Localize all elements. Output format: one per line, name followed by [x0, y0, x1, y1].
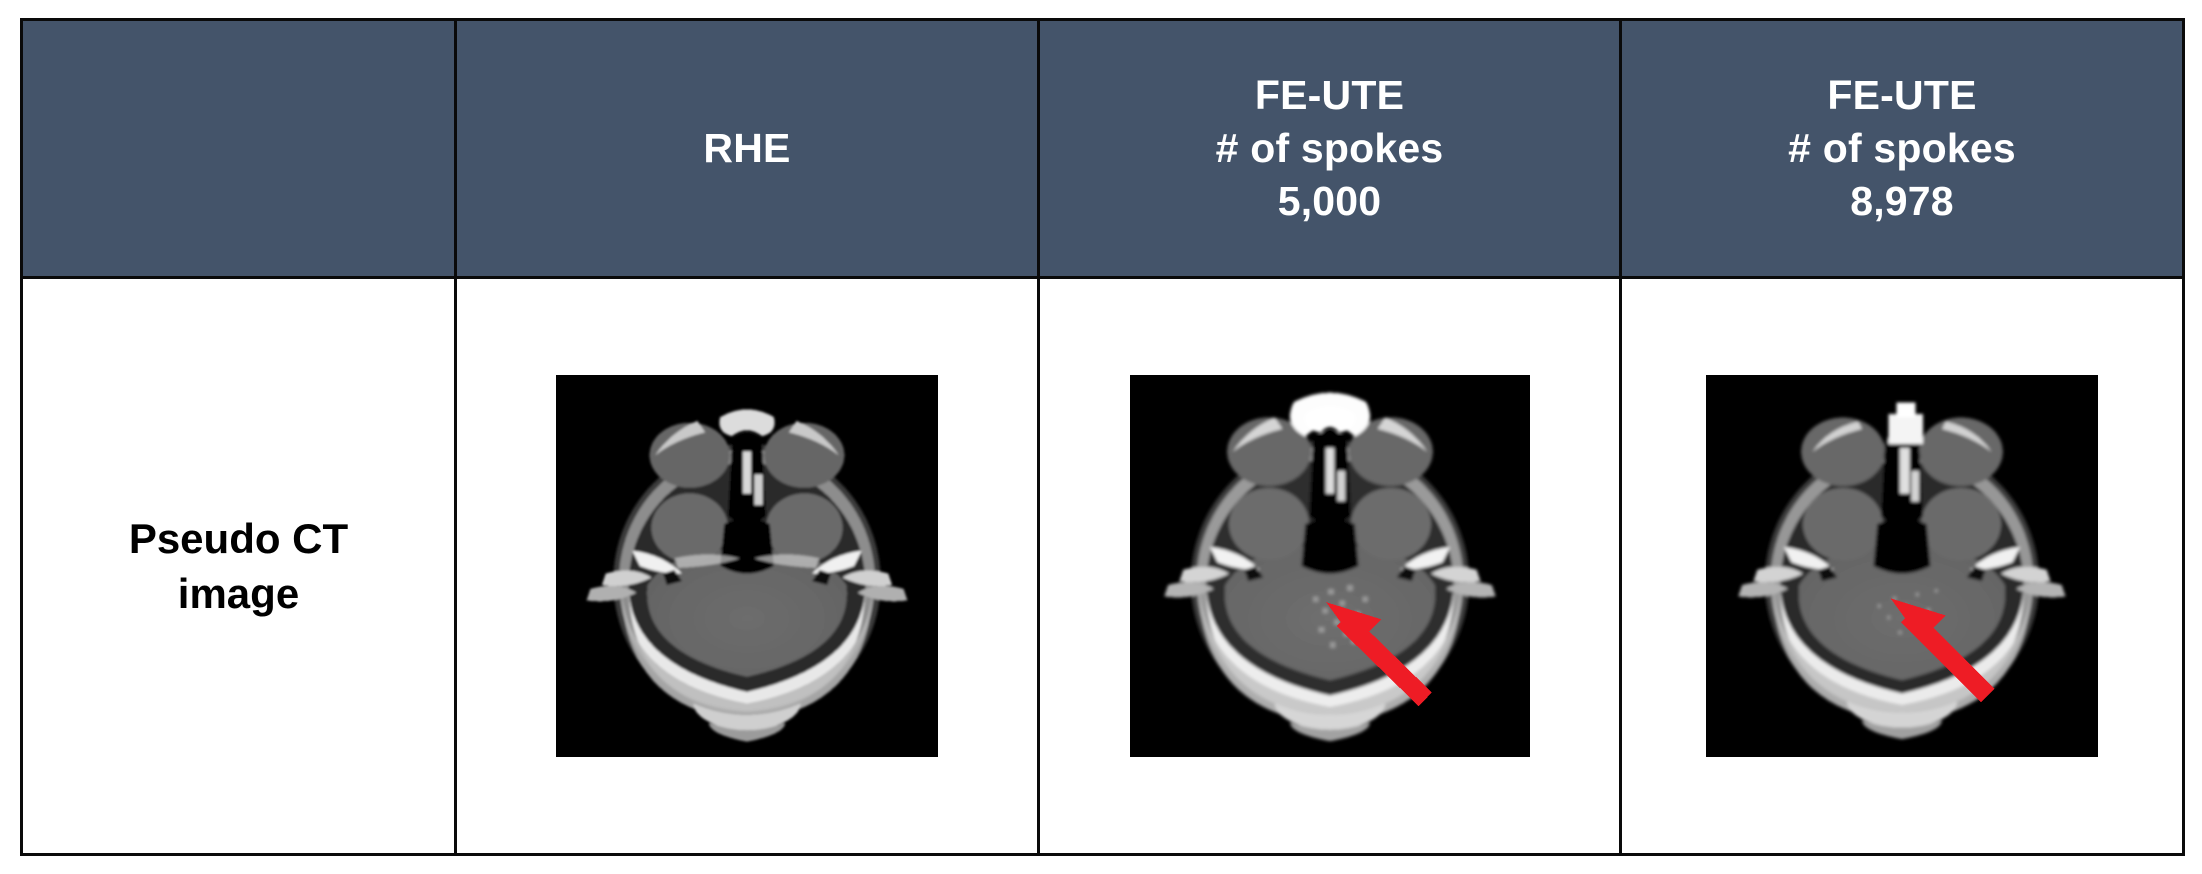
comparison-table: RHE FE-UTE # of spokes 5,000 FE-UTE # of… — [20, 18, 2185, 856]
ct-image-feute-5000 — [1130, 375, 1530, 757]
header-feute8978-line1: FE-UTE — [1622, 69, 2182, 122]
figure-root: RHE FE-UTE # of spokes 5,000 FE-UTE # of… — [0, 0, 2202, 874]
cell-pseudo-ct-feute-5000 — [1039, 278, 1621, 855]
header-feute5000-line1: FE-UTE — [1040, 69, 1619, 122]
header-rhe-line1: RHE — [457, 122, 1037, 175]
table-row: Pseudo CT image — [22, 278, 2184, 855]
ct-image-feute-8978 — [1706, 375, 2098, 757]
ct-slice-rhe-svg — [556, 375, 938, 757]
cell-pseudo-ct-feute-8978 — [1621, 278, 2184, 855]
row-label-line1: Pseudo CT — [23, 511, 454, 566]
header-corner-cell — [22, 20, 456, 278]
ct-image-rhe — [556, 375, 938, 757]
row-label-pseudo-ct: Pseudo CT image — [22, 278, 456, 855]
header-cell-feute-5000: FE-UTE # of spokes 5,000 — [1039, 20, 1621, 278]
cell-pseudo-ct-rhe — [456, 278, 1039, 855]
ct-slice-feute8978-svg — [1706, 375, 2098, 757]
row-label-line2: image — [23, 566, 454, 621]
header-feute5000-line3: 5,000 — [1040, 175, 1619, 228]
header-feute8978-line2: # of spokes — [1622, 122, 2182, 175]
table-header-row: RHE FE-UTE # of spokes 5,000 FE-UTE # of… — [22, 20, 2184, 278]
header-cell-feute-8978: FE-UTE # of spokes 8,978 — [1621, 20, 2184, 278]
header-cell-rhe: RHE — [456, 20, 1039, 278]
header-feute8978-line3: 8,978 — [1622, 175, 2182, 228]
header-feute5000-line2: # of spokes — [1040, 122, 1619, 175]
ct-slice-feute5000-svg — [1130, 375, 1530, 757]
